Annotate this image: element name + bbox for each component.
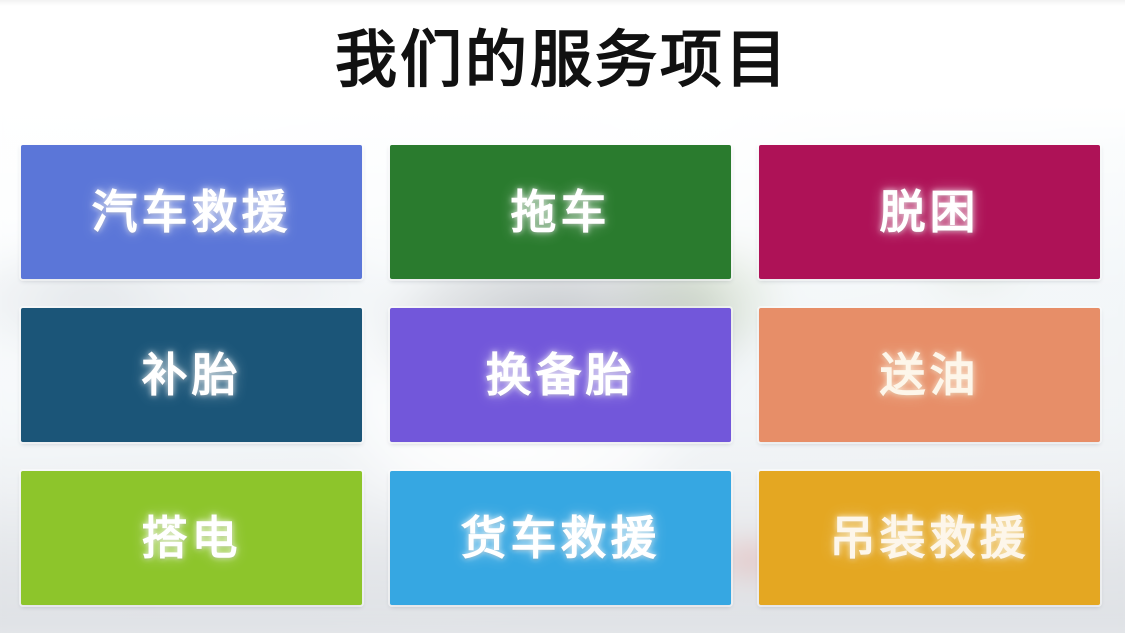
service-tile[interactable]: 吊装救援 — [759, 471, 1100, 605]
service-tile-grid: 汽车救援拖车脱困补胎换备胎送油搭电货车救援吊装救援 — [21, 145, 1101, 615]
service-tile-label: 补胎 — [142, 352, 242, 398]
service-tile-label: 送油 — [880, 352, 980, 398]
page-title: 我们的服务项目 — [0, 24, 1125, 98]
service-tile-label: 脱困 — [880, 189, 980, 235]
service-tile-label: 拖车 — [511, 189, 611, 235]
service-tile-label: 货车救援 — [461, 515, 661, 561]
service-tile-label: 搭电 — [142, 515, 242, 561]
service-tile-label: 换备胎 — [486, 352, 636, 398]
service-tile[interactable]: 拖车 — [390, 145, 731, 279]
service-tile[interactable]: 送油 — [759, 308, 1100, 442]
service-tile-label: 吊装救援 — [830, 515, 1030, 561]
service-tile[interactable]: 汽车救援 — [21, 145, 362, 279]
service-tile[interactable]: 补胎 — [21, 308, 362, 442]
service-poster: 我们的服务项目 汽车救援拖车脱困补胎换备胎送油搭电货车救援吊装救援 — [0, 0, 1125, 633]
service-tile[interactable]: 货车救援 — [390, 471, 731, 605]
service-tile[interactable]: 换备胎 — [390, 308, 731, 442]
service-tile[interactable]: 脱困 — [759, 145, 1100, 279]
service-tile-label: 汽车救援 — [92, 189, 292, 235]
service-tile[interactable]: 搭电 — [21, 471, 362, 605]
